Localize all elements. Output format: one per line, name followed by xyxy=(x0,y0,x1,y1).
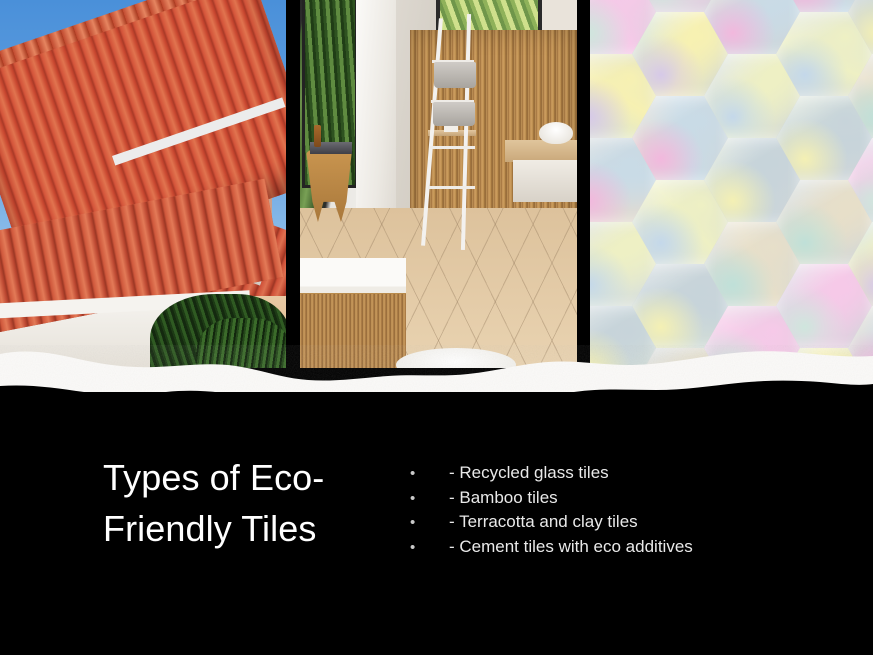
amber-bottle xyxy=(314,125,321,147)
slide: Types of Eco- Friendly Tiles •- Recycled… xyxy=(0,0,873,655)
ladder-rung-4 xyxy=(428,186,475,189)
bullet-point-icon: • xyxy=(410,511,449,536)
bullet-point-icon: • xyxy=(410,536,449,561)
garden-bush-front xyxy=(196,318,286,368)
terracotta-roof-photo xyxy=(0,0,286,368)
bamboo-bathroom-photo xyxy=(300,0,577,368)
list-item: •- Recycled glass tiles xyxy=(410,461,693,486)
page-title-line-2: Friendly Tiles xyxy=(103,503,403,554)
page-title: Types of Eco- Friendly Tiles xyxy=(103,452,403,554)
bullet-point-icon: • xyxy=(410,487,449,512)
wash-basin xyxy=(539,122,573,144)
vanity-cabinet xyxy=(513,160,577,202)
bottom-content-panel: Types of Eco- Friendly Tiles •- Recycled… xyxy=(0,392,873,655)
hexagon-tile-grid xyxy=(590,0,873,368)
page-title-line-1: Types of Eco- xyxy=(103,452,403,503)
vanity-countertop xyxy=(505,140,577,162)
bathtub-bamboo-panel xyxy=(300,294,406,368)
iridescent-hexagon-tile-photo xyxy=(590,0,873,368)
list-item-label: - Terracotta and clay tiles xyxy=(449,510,638,535)
image-band xyxy=(0,0,873,368)
ladder-rung-3 xyxy=(430,146,475,149)
list-item-label: - Cement tiles with eco additives xyxy=(449,535,693,560)
list-item-label: - Recycled glass tiles xyxy=(449,461,609,486)
tile-type-list: •- Recycled glass tiles•- Bamboo tiles•-… xyxy=(410,461,693,559)
bullet-point-icon: • xyxy=(410,462,449,487)
hanging-towel-second xyxy=(433,102,475,126)
list-item: •- Terracotta and clay tiles xyxy=(410,510,693,535)
list-item-label: - Bamboo tiles xyxy=(449,486,558,511)
list-item: •- Bamboo tiles xyxy=(410,486,693,511)
list-item: •- Cement tiles with eco additives xyxy=(410,535,693,560)
hanging-towel-top xyxy=(434,62,476,88)
